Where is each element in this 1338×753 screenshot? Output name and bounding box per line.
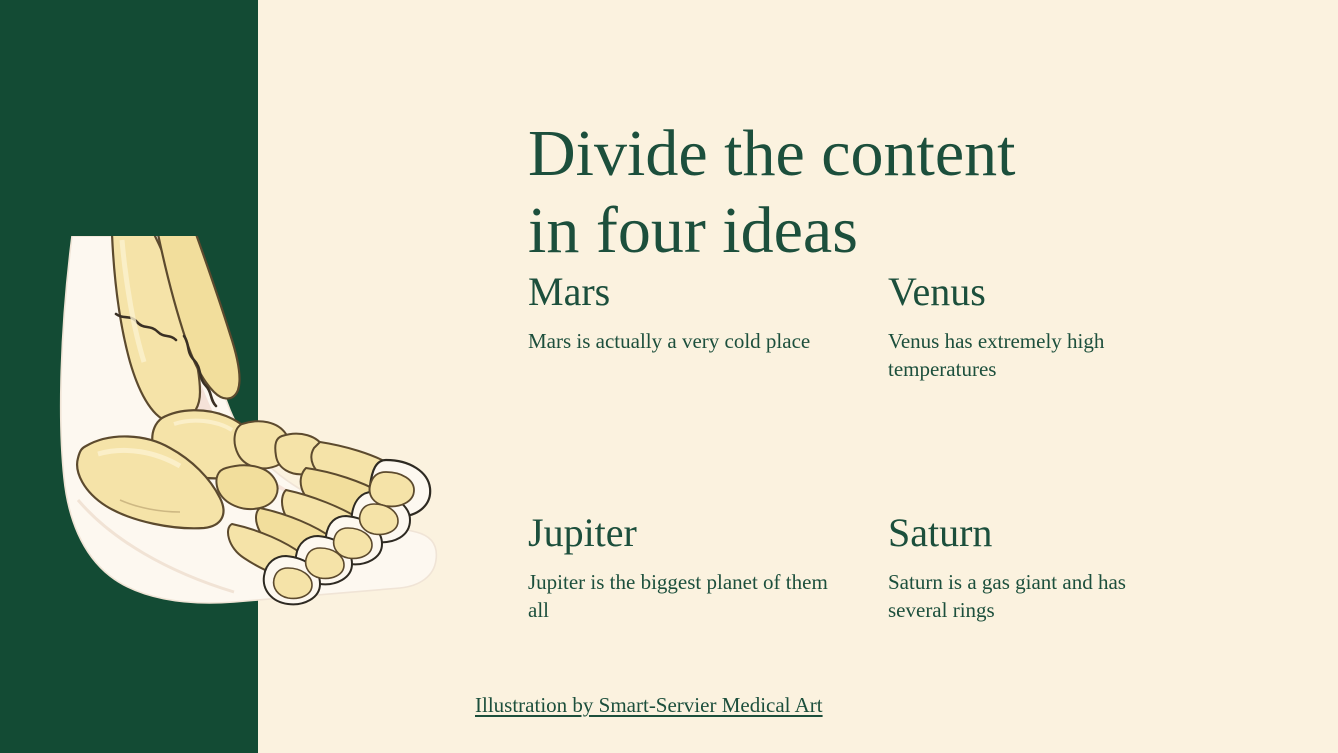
page-title-line-2: in four ideas [528, 194, 858, 267]
slide-canvas: Divide the content in four ideas Mars Ma… [0, 0, 1338, 753]
idea-title-jupiter: Jupiter [528, 511, 868, 555]
ideas-row-bottom: Jupiter Jupiter is the biggest planet of… [528, 511, 1228, 624]
foot-skeleton-illustration [34, 210, 454, 630]
idea-body-mars: Mars is actually a very cold place [528, 328, 828, 356]
idea-title-mars: Mars [528, 270, 868, 314]
idea-body-venus: Venus has extremely high temperatures [888, 328, 1188, 383]
four-ideas-grid: Mars Mars is actually a very cold place … [528, 270, 1228, 625]
page-title: Divide the content in four ideas [528, 116, 1228, 269]
idea-block-saturn: Saturn Saturn is a gas giant and has sev… [888, 511, 1228, 624]
idea-block-venus: Venus Venus has extremely high temperatu… [888, 270, 1228, 383]
great-toe-phalanx [370, 472, 414, 506]
page-title-line-1: Divide the content [528, 117, 1016, 190]
idea-block-jupiter: Jupiter Jupiter is the biggest planet of… [528, 511, 888, 624]
idea-title-saturn: Saturn [888, 511, 1228, 555]
illustration-credit-link[interactable]: Illustration by Smart-Servier Medical Ar… [475, 693, 823, 718]
idea-body-jupiter: Jupiter is the biggest planet of them al… [528, 569, 828, 624]
ideas-row-top: Mars Mars is actually a very cold place … [528, 270, 1228, 383]
idea-block-mars: Mars Mars is actually a very cold place [528, 270, 888, 383]
idea-title-venus: Venus [888, 270, 1228, 314]
idea-body-saturn: Saturn is a gas giant and has several ri… [888, 569, 1188, 624]
